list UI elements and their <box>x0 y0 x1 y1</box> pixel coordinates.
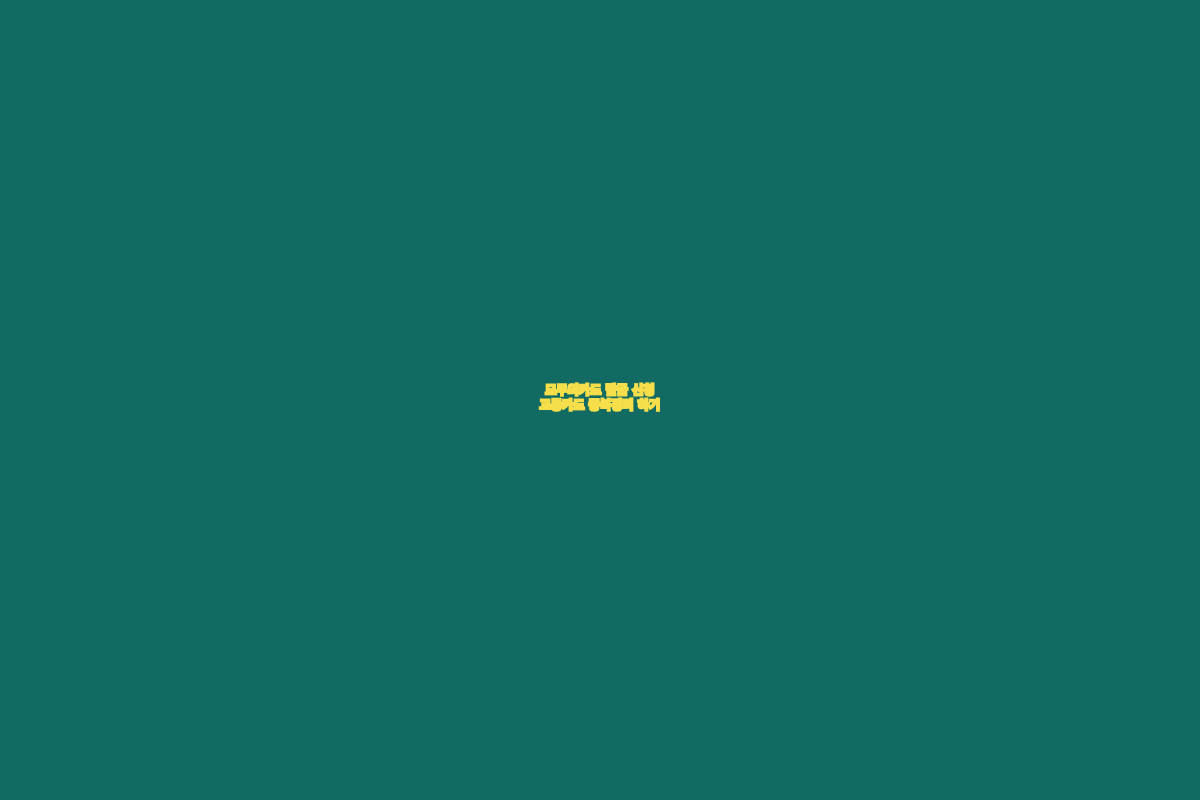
banner-canvas: 모두의카드 발급 신청 교통카드 중복정리 하기 <box>0 0 1200 800</box>
headline-line-1: 모두의카드 발급 신청 <box>0 383 1200 398</box>
headline-block: 모두의카드 발급 신청 교통카드 중복정리 하기 <box>0 383 1200 414</box>
headline-line-2: 교통카드 중복정리 하기 <box>0 398 1200 413</box>
